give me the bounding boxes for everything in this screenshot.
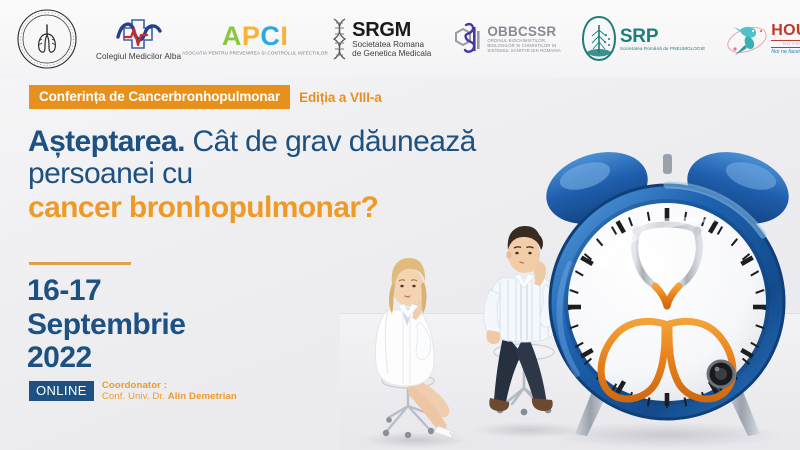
logo-sub-srp: Societatea Română de PNEUMOLOGIE [620, 47, 705, 52]
apci-letter-p: P [242, 21, 261, 51]
coordinator-name: Conf. Univ. Dr. Alin Demetrian [102, 391, 237, 402]
logo-label-obbcssr: OBBCSSR [487, 24, 560, 39]
poster-artwork [340, 150, 800, 450]
dna-helix-icon [331, 17, 348, 61]
logo-obbcssr: OBBCSSR ORDINUL BIOCHIMISTILOR, BIOLOGIL… [453, 19, 560, 59]
conference-edition-label: Ediția a VIII-a [299, 90, 382, 105]
event-date: 16-17 Septembrie 2022 [27, 274, 185, 375]
logo-sub-apci: ASOCIATIA PENTRU PREVENIREA SI CONTROLUL… [182, 50, 328, 55]
lungs-circular-seal-icon [16, 8, 78, 70]
obbcssr-emblem-icon [453, 19, 483, 59]
medical-cross-ekg-icon [112, 17, 166, 51]
alarm-clock-with-lungs-stethoscope [525, 152, 800, 442]
apci-letter-c: C [260, 21, 280, 51]
female-doctor-on-stool [354, 234, 474, 444]
event-date-year: 2022 [27, 341, 185, 375]
apci-wordmark-icon: APCI [222, 23, 289, 50]
coordinator-title: Coordonator : [102, 380, 237, 391]
event-strip: Conferința de Cancerbronhopulmonar Ediți… [29, 85, 382, 109]
logo-sub-houston: NO PROBLEM, ACTION! [771, 40, 800, 48]
date-divider-rule [29, 262, 131, 265]
status-badge-online: ONLINE [29, 381, 94, 401]
logo-srp: SRP Societatea Română de PNEUMOLOGIE [581, 15, 705, 63]
logo-srgm: SRGM Societatea Romana de Genetica Medic… [331, 17, 431, 61]
apci-letter-i: I [280, 21, 288, 51]
partner-logo-bar: Colegiul Medicilor Alba APCI ASOCIATIA P… [0, 0, 800, 78]
logo-label-colegiul-medicilor-alba: Colegiul Medicilor Alba [96, 52, 181, 61]
tree-in-lung-icon [581, 15, 617, 63]
hummingbird-icon [725, 19, 769, 59]
event-date-days: 16-17 [27, 274, 185, 308]
event-date-month: Septembrie [27, 308, 185, 342]
logo-tagline-houston: Noi ne facem partea noastră [771, 50, 800, 56]
coordinator-name-person: Alin Demetrian [168, 391, 237, 402]
conference-poster: Colegiul Medicilor Alba APCI ASOCIATIA P… [0, 0, 800, 450]
conference-title-chip: Conferința de Cancerbronhopulmonar [29, 85, 290, 109]
logo-houston: HOUSTON NO PROBLEM, ACTION! Noi ne facem… [725, 19, 800, 59]
logo-label-houston: HOUSTON [771, 22, 800, 40]
logo-sub-obbcssr-line3: SISTEMUL SANITAR DIN ROMANIA [487, 49, 560, 54]
logo-label-srgm: SRGM [352, 20, 431, 41]
logo-label-srp: SRP [620, 27, 705, 47]
logo-colegiul-medicilor-alba: Colegiul Medicilor Alba [96, 17, 181, 61]
headline-strong: Așteptarea. [28, 125, 185, 158]
coordinator-name-prefix: Conf. Univ. Dr. [102, 391, 168, 402]
coordinator-block: Coordonator : Conf. Univ. Dr. Alin Demet… [102, 380, 237, 403]
logo-romanian-thoracic-society [10, 8, 78, 70]
apci-letter-a: A [222, 21, 242, 51]
footer-row: ONLINE Coordonator : Conf. Univ. Dr. Ali… [29, 380, 237, 403]
logo-sub-srgm-line2: de Genetica Medicala [352, 50, 431, 59]
logo-apci: APCI ASOCIATIA PENTRU PREVENIREA SI CONT… [201, 23, 309, 55]
